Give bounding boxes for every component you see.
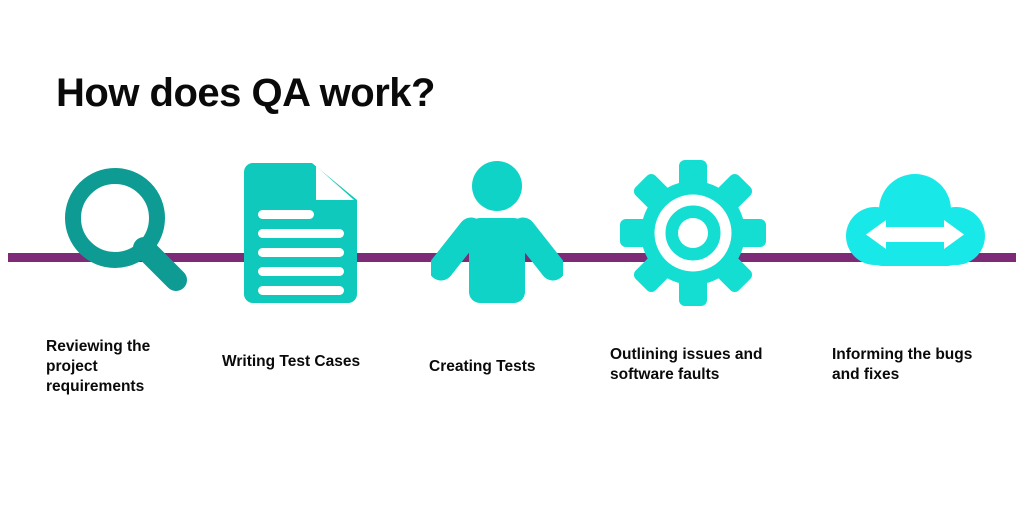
magnifier-icon xyxy=(60,158,190,308)
step-5-informing-bugs: Informing the bugs and fixes xyxy=(832,150,990,315)
step-5-label: Informing the bugs and fixes xyxy=(832,345,1024,385)
step-3-icon-wrap xyxy=(425,150,563,315)
step-5-icon-wrap xyxy=(832,150,990,315)
step-1-reviewing-requirements: Reviewing the project requirements xyxy=(46,150,190,315)
step-2-icon-wrap xyxy=(222,150,364,315)
step-4-label: Outlining issues and software faults xyxy=(610,345,820,385)
step-1-icon-wrap xyxy=(46,150,190,315)
step-4-icon-wrap xyxy=(610,150,768,315)
qa-infographic: How does QA work? Reviewing the project … xyxy=(0,0,1024,512)
person-icon xyxy=(431,158,563,308)
step-2-writing-test-cases: Writing Test Cases xyxy=(222,150,364,315)
step-3-label: Creating Tests xyxy=(429,357,609,377)
step-3-creating-tests: Creating Tests xyxy=(425,150,563,315)
document-icon xyxy=(236,158,364,308)
step-1-label: Reviewing the project requirements xyxy=(46,337,226,396)
gear-icon xyxy=(618,158,768,308)
steps-row: Reviewing the project requirements Wr xyxy=(0,0,1024,512)
cloud-transfer-icon xyxy=(840,158,990,308)
step-2-label: Writing Test Cases xyxy=(222,352,412,372)
step-4-outlining-issues: Outlining issues and software faults xyxy=(610,150,768,315)
